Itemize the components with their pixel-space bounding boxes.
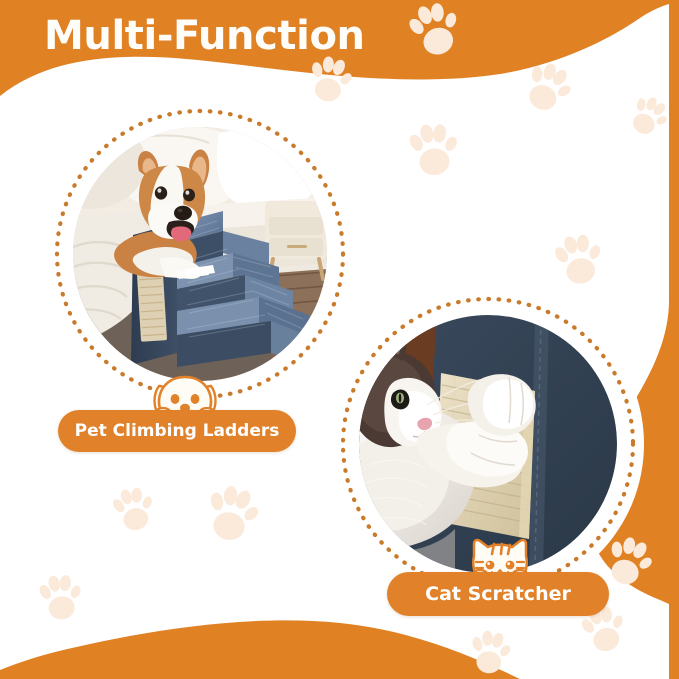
poster-canvas: Multi-Function [0, 0, 679, 679]
badge-pet-climbing-ladders[interactable]: Pet Climbing Ladders [58, 410, 296, 452]
badge-label-pet-climbing-ladders: Pet Climbing Ladders [75, 423, 280, 440]
photo-dog-on-stairs [73, 127, 327, 381]
photo-cat-scratching [359, 315, 617, 573]
feature-photo-pet-ladders [46, 100, 354, 408]
page-title: Multi-Function [44, 13, 365, 59]
badge-cat-scratcher[interactable]: Cat Scratcher [387, 572, 609, 616]
badge-label-cat-scratcher: Cat Scratcher [425, 585, 571, 604]
